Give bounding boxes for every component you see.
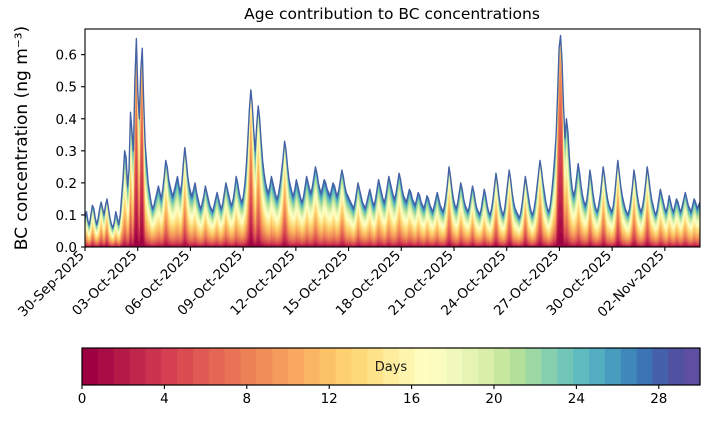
colorbar-segment [637,348,653,385]
colorbar-segment [320,348,336,385]
y-tick-label: 0.4 [56,112,77,128]
y-axis-title: BC concentration (ng m⁻³) [12,26,32,250]
colorbar-tick-label: 8 [243,391,252,407]
colorbar-title: Days [375,360,408,375]
colorbar-segment [351,348,367,385]
colorbar-segment [668,348,684,385]
colorbar-segment [557,348,573,385]
colorbar-segment [542,348,558,385]
colorbar-segment [98,348,114,385]
y-tick-label: 0.5 [56,80,77,96]
y-tick-label: 0.1 [56,208,77,224]
colorbar-segment [114,348,130,385]
colorbar-segment [240,348,256,385]
colorbar-segment [494,348,510,385]
figure-container: Age contribution to BC concentrations 0.… [0,0,714,425]
colorbar-segment [225,348,241,385]
colorbar-tick-label: 4 [160,391,169,407]
colorbar-segment [193,348,209,385]
y-tick-label: 0.2 [56,176,77,192]
colorbar-segment [573,348,589,385]
colorbar-segment [478,348,494,385]
colorbar-segment [431,348,447,385]
colorbar-segment [621,348,637,385]
colorbar-segment [462,348,478,385]
colorbar-segment [272,348,288,385]
colorbar-segment [684,348,700,385]
colorbar-segment [145,348,161,385]
colorbar-segment [589,348,605,385]
colorbar-ticks: 0481216202428 [78,385,668,407]
colorbar-segment [161,348,177,385]
colorbar-segment [304,348,320,385]
colorbar-segment [510,348,526,385]
stacked-area-series [85,35,700,247]
colorbar-segment [177,348,193,385]
colorbar-segment [605,348,621,385]
colorbar-tick-label: 24 [568,391,585,407]
colorbar-segment [336,348,352,385]
colorbar-tick-label: 20 [485,391,502,407]
colorbar-tick-label: 28 [650,391,667,407]
y-tick-label: 0.3 [56,144,77,160]
colorbar-segment [446,348,462,385]
y-tick-label: 0.6 [56,48,77,64]
y-axis-ticks: 0.00.10.20.30.40.50.6 [56,48,85,256]
colorbar-tick-label: 12 [321,391,338,407]
colorbar-segment [526,348,542,385]
colorbar-segment [130,348,146,385]
colorbar-segment [209,348,225,385]
colorbar-segment [415,348,431,385]
chart-svg: Age contribution to BC concentrations 0.… [0,0,714,425]
x-axis-ticks: 30-Sep-202503-Oct-202506-Oct-202509-Oct-… [15,247,668,321]
colorbar-segment [652,348,668,385]
colorbar-segment [256,348,272,385]
colorbar-tick-label: 0 [78,391,87,407]
colorbar-segment [82,348,98,385]
colorbar-segment [288,348,304,385]
colorbar-tick-label: 16 [403,391,420,407]
chart-title: Age contribution to BC concentrations [244,5,540,23]
